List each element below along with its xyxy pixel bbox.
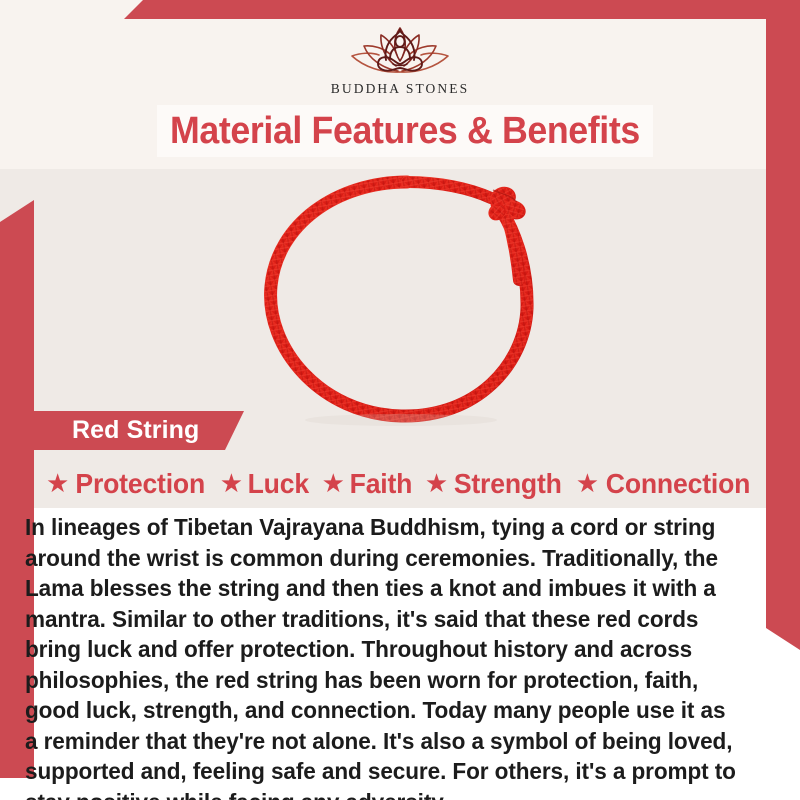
benefit-luck: ★ Luck <box>220 468 311 500</box>
brand-logo: BUDDHA STONES <box>0 14 800 97</box>
description-paragraph: In lineages of Tibetan Vajrayana Buddhis… <box>25 512 743 800</box>
star-icon: ★ <box>425 470 448 496</box>
brand-wordmark: BUDDHA STONES <box>0 81 800 97</box>
ribbon-label: Red String <box>72 416 199 445</box>
infographic-page: BUDDHA STONES Material Features & Benefi… <box>0 0 800 800</box>
benefit-label: Faith <box>350 468 413 500</box>
benefit-faith: ★ Faith <box>322 468 414 500</box>
red-string-ribbon: Red String <box>34 411 244 450</box>
star-icon: ★ <box>322 470 345 496</box>
benefit-label: Luck <box>248 468 309 500</box>
benefits-row: ★ Protection ★ Luck ★ Faith ★ Strength ★… <box>0 462 800 506</box>
lotus-meditation-icon <box>338 14 462 80</box>
product-image <box>225 168 585 430</box>
star-icon: ★ <box>46 470 69 496</box>
star-icon: ★ <box>576 470 599 496</box>
benefit-connection: ★ Connection <box>576 468 754 500</box>
title-banner: Material Features & Benefits <box>157 105 653 157</box>
benefit-label: Strength <box>454 468 562 500</box>
page-title: Material Features & Benefits <box>170 110 640 153</box>
benefit-label: Connection <box>606 468 750 500</box>
benefit-label: Protection <box>76 468 206 500</box>
benefit-protection: ★ Protection <box>46 468 209 500</box>
star-icon: ★ <box>220 470 243 496</box>
benefit-strength: ★ Strength <box>425 468 565 500</box>
decorative-red-right-bar <box>766 0 800 650</box>
red-string-bracelet-illustration <box>225 168 585 430</box>
